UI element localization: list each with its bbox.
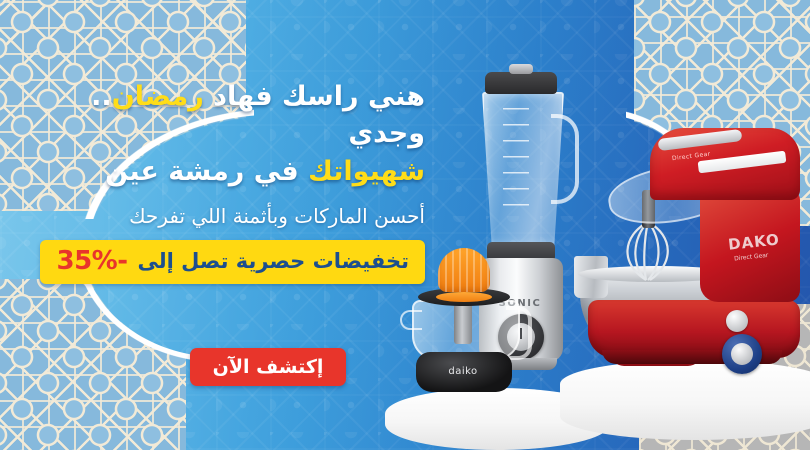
headline: هني راسك فهاد رمضان.. وجدي شهيواتك في رم… <box>65 78 425 190</box>
headline-line2-after: في رمشة عين <box>105 156 308 187</box>
headline-line-1: هني راسك فهاد رمضان.. وجدي <box>65 78 425 153</box>
subtitle: أحسن الماركات وبأثمنة اللي تفرحك <box>65 203 425 229</box>
ornament-bottom-left <box>0 279 186 450</box>
discount-badge-percent: -35% <box>56 246 127 276</box>
juicer-shaft <box>454 304 472 344</box>
product-stand-mixer-dako: Direct Gear DAKO Direct Gear <box>580 128 810 378</box>
copy-block: هني راسك فهاد رمضان.. وجدي شهيواتك في رم… <box>65 78 425 229</box>
mixer-speed-dial <box>722 334 762 374</box>
promotional-banner: SONIC daiko <box>0 0 810 450</box>
blender-handle <box>551 114 579 204</box>
discount-badge: تخفيضات حصرية تصل إلى -35% <box>40 240 425 284</box>
juicer-spout <box>400 310 422 330</box>
headline-line1-before: هني راسك فهاد <box>204 81 425 112</box>
juicer-reamer-cone <box>438 248 490 292</box>
blender-lid <box>485 72 557 94</box>
blender-measurement-marks <box>503 108 529 208</box>
mixer-tilt-knob <box>726 310 748 332</box>
juicer-brand-label: daiko <box>398 366 528 377</box>
headline-line-2: شهيواتك في رمشة عين <box>65 153 425 190</box>
mixer-wire-whisk <box>612 220 684 282</box>
blender-lid-knob <box>509 64 533 74</box>
juicer-strainer <box>436 292 492 302</box>
discount-badge-text: تخفيضات حصرية تصل إلى <box>138 249 409 273</box>
ornament-bottom-left-edge <box>0 271 194 450</box>
juicer-handle <box>506 306 532 360</box>
headline-line2-highlight: شهيواتك <box>308 156 425 187</box>
headline-line1-highlight: رمضان <box>112 81 204 112</box>
discover-now-button[interactable]: إكتشف الآن <box>190 348 346 386</box>
